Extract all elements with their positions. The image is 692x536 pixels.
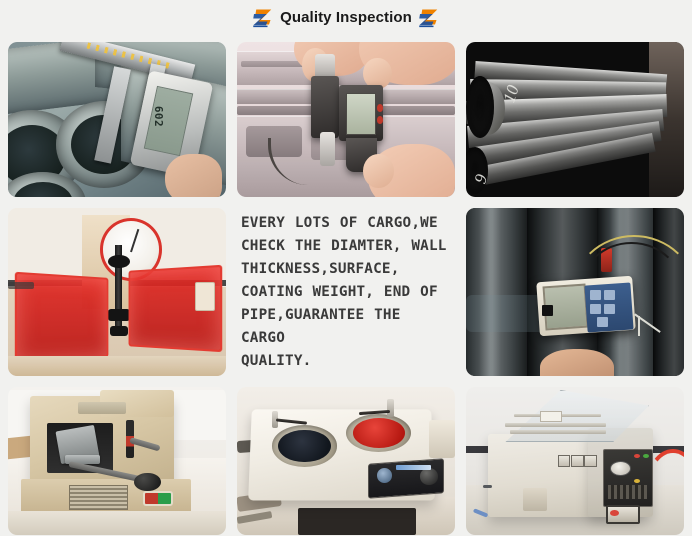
photo-caliper-measuring-pipe-diameter: 602 [8,42,226,197]
gallery-cell-salt-spray-chamber[interactable] [466,387,684,535]
caliper-reading: 602 [152,106,165,127]
page-header: Quality Inspection [0,0,692,34]
photo-metallographic-specimen-cutting-machine [8,387,226,535]
description-line-5: PIPE,GUARANTEE THE CARGO [241,304,453,350]
inspection-description-panel: EVERY LOTS OF CARGO,WE CHECK THE DIAMTER… [237,208,455,376]
gallery-cell-ultrasonic-gauge[interactable] [466,208,684,376]
photo-red-flattening-impact-test-fixture [8,208,226,376]
gallery-cell-polishing-machine[interactable] [237,387,455,535]
photo-steel-pipe-bundle-with-markings: 10 9 [466,42,684,197]
photo-twin-disc-grinding-polishing-machine [237,387,455,535]
z-logo-icon-left [251,5,275,29]
description-line-4: COATING WEIGHT, END OF [241,281,453,304]
inspection-gallery-grid: 602 [8,42,684,530]
quality-inspection-page: Quality Inspection 602 [0,0,692,536]
description-line-2: CHECK THE DIAMTER, WALL [241,235,453,258]
description-line-6: QUALITY. [241,350,453,373]
page-title: Quality Inspection [277,9,415,26]
photo-salt-spray-corrosion-test-chamber [466,387,684,535]
gallery-cell-steel-pipe-bundle[interactable]: 10 9 [466,42,684,197]
description-line-1: EVERY LOTS OF CARGO,WE [241,212,453,235]
gallery-cell-cutting-machine[interactable] [8,387,226,535]
photo-ultrasonic-thickness-gauge-on-pipes [466,208,684,376]
z-logo-icon-right [417,5,441,29]
inspection-description-text: EVERY LOTS OF CARGO,WE CHECK THE DIAMTER… [241,212,453,373]
photo-digital-thickness-gauge-in-hands [237,42,455,197]
description-line-3: THICKNESS,SURFACE, [241,258,453,281]
gallery-cell-thickness-gauge[interactable] [237,42,455,197]
gallery-cell-caliper-pipes[interactable]: 602 [8,42,226,197]
gallery-cell-flattening-tester[interactable] [8,208,226,376]
